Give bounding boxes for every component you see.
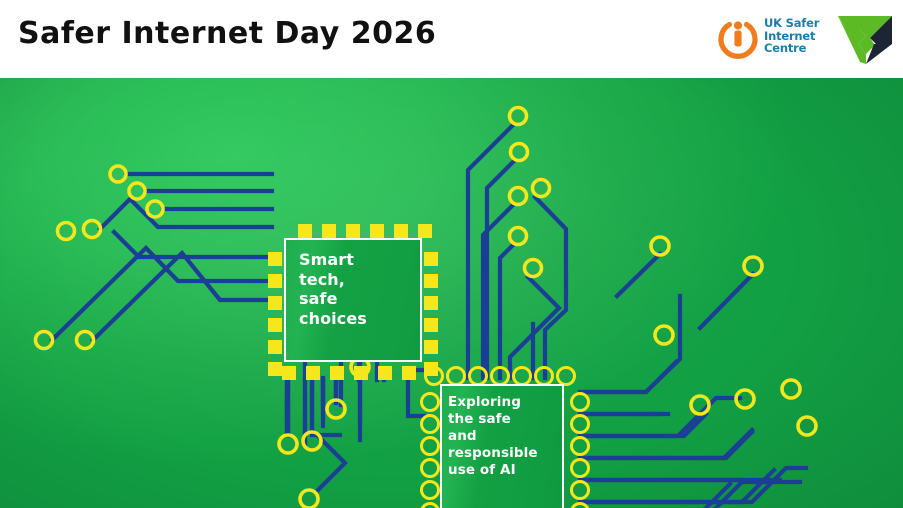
chip-pin	[570, 480, 590, 500]
chip-pin	[346, 224, 360, 238]
page-title: Safer Internet Day 2026	[18, 16, 436, 51]
header-bar: Safer Internet Day 2026 UK Safer Interne…	[0, 0, 903, 78]
chip-ai-line-1: Exploring	[448, 394, 560, 411]
chip-pin	[282, 366, 296, 380]
chip-pin	[268, 296, 282, 310]
chip-ai-line-3: and	[448, 428, 560, 445]
chip-pin	[424, 252, 438, 266]
chip-pin	[354, 366, 368, 380]
uksic-line-3: Centre	[764, 42, 826, 55]
chip-pin	[268, 340, 282, 354]
chip-smart-tech: Smart tech, safe choices	[268, 224, 438, 376]
chip-ai-line-2: the safe	[448, 411, 560, 428]
chip-ai-line-4: responsible	[448, 445, 560, 462]
chip-pin	[446, 366, 466, 386]
chip-pin	[420, 414, 440, 434]
chip-exploring-ai: Exploring the safe and responsible use o…	[420, 366, 584, 508]
chip-pin	[570, 436, 590, 456]
chip-pin	[512, 366, 532, 386]
chip-ai-label: Exploring the safe and responsible use o…	[448, 394, 560, 479]
chip-smart-line-3: safe	[299, 289, 419, 309]
chip-pin	[268, 274, 282, 288]
chip-pin	[420, 480, 440, 500]
chip-pin	[268, 362, 282, 376]
chip-pin	[424, 274, 438, 288]
chip-pin	[424, 318, 438, 332]
chip-pin	[330, 366, 344, 380]
chip-pin	[468, 366, 488, 386]
chip-pin	[420, 436, 440, 456]
chip-ai-line-5: use of AI	[448, 462, 560, 479]
uksic-line-1: UK Safer	[764, 17, 826, 30]
slide-canvas: Safer Internet Day 2026 UK Safer Interne…	[0, 0, 903, 508]
power-person-icon	[716, 16, 760, 60]
uksic-wordmark: UK Safer Internet Centre	[764, 17, 826, 55]
chip-pin	[420, 502, 440, 508]
chip-smart-line-2: tech,	[299, 270, 419, 290]
chip-pin	[424, 366, 444, 386]
circuit-board-graphic: Smart tech, safe choices	[0, 78, 903, 508]
chip-pin	[534, 366, 554, 386]
chip-pin	[370, 224, 384, 238]
chip-pin	[268, 252, 282, 266]
chip-pin	[570, 414, 590, 434]
uk-safer-internet-centre-logo: UK Safer Internet Centre	[716, 12, 824, 64]
chip-pin	[306, 366, 320, 380]
chip-pin	[394, 224, 408, 238]
chip-pin	[420, 458, 440, 478]
chip-smart-line-4: choices	[299, 309, 419, 329]
chip-pin	[556, 366, 576, 386]
chip-smart-line-1: Smart	[299, 250, 419, 270]
chip-pin	[418, 224, 432, 238]
chip-pin	[322, 224, 336, 238]
chip-pin	[420, 392, 440, 412]
chip-pin	[570, 392, 590, 412]
chip-pin	[402, 366, 416, 380]
chip-pin	[424, 296, 438, 310]
chip-smart-label: Smart tech, safe choices	[299, 250, 419, 328]
chip-pin	[268, 318, 282, 332]
chip-pin	[378, 366, 392, 380]
partner-arrow-logo	[836, 10, 894, 66]
chip-pin	[298, 224, 312, 238]
chip-pin	[490, 366, 510, 386]
chip-pin	[424, 340, 438, 354]
chip-pin	[570, 458, 590, 478]
